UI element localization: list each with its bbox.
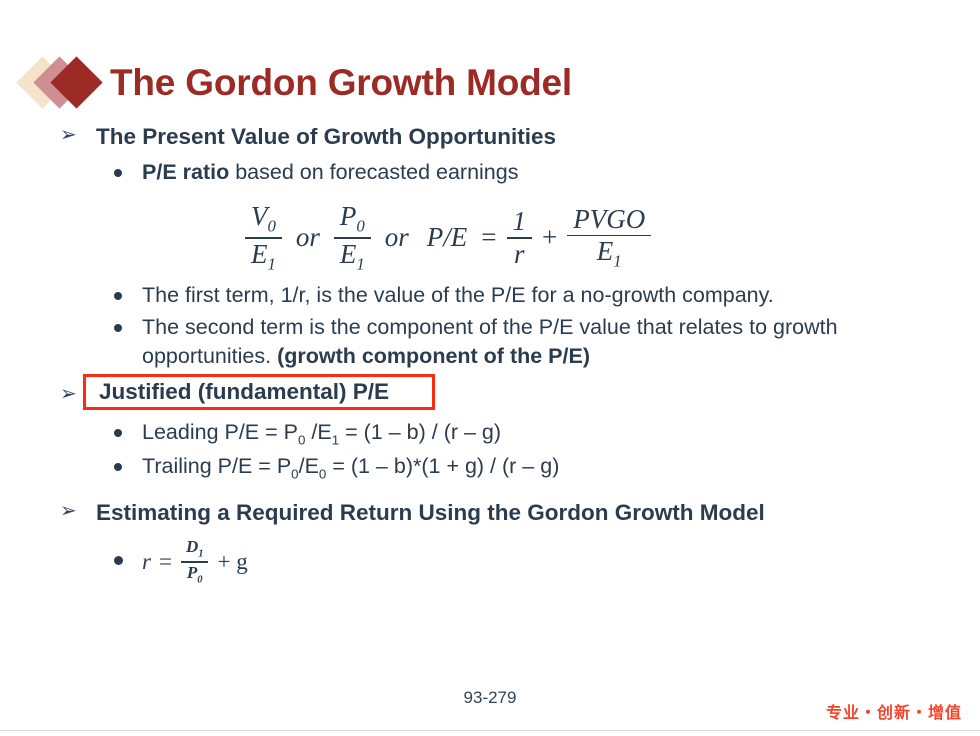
fraction-denominator: r xyxy=(508,239,531,270)
fraction-numerator: 1 xyxy=(507,206,533,237)
footer-divider xyxy=(0,730,980,731)
formula-equals: = xyxy=(476,222,501,253)
formula-r-tail: + g xyxy=(213,549,247,575)
formula-plus: + xyxy=(537,222,562,253)
slide: The Gordon Growth Model ➢ The Present Va… xyxy=(0,0,980,736)
slide-title-row: The Gordon Growth Model xyxy=(24,54,572,112)
footer-tagline: 专业・创新・增值 xyxy=(826,699,962,723)
highlight-box-justified-pe: Justified (fundamental) P/E xyxy=(83,374,435,410)
arrow-marker-icon: ➢ xyxy=(60,498,77,525)
bullet-dot-icon xyxy=(114,324,122,332)
bullet-second-term-bold: (growth component of the P/E) xyxy=(277,344,590,368)
formula-pe-decomposition: V0 E1 or P0 E1 or P/E = 1 r + xyxy=(0,201,980,267)
formula-or-2: or xyxy=(376,222,418,253)
fraction-numerator: PVGO xyxy=(567,204,651,235)
arrow-marker-icon: ➢ xyxy=(60,381,77,406)
formula-required-return: r = D1 P0 + g xyxy=(0,537,980,589)
fraction-d1-p0: D1 P0 xyxy=(181,537,209,586)
bullet-pe-ratio-bold: P/E ratio xyxy=(142,160,229,184)
fraction-denominator: E1 xyxy=(334,239,371,275)
section-heading-justified-label: Justified (fundamental) P/E xyxy=(99,379,389,405)
fraction-one-over-r: 1 r xyxy=(507,206,533,270)
bullet-trailing-pe: Trailing P/E = P0/E0 = (1 – b)*(1 + g) /… xyxy=(0,452,980,483)
fraction-numerator: P0 xyxy=(334,201,371,237)
section-heading-required-return-label: Estimating a Required Return Using the G… xyxy=(96,500,765,525)
bullet-leading-pe: Leading P/E = P0 /E1 = (1 – b) / (r – g) xyxy=(0,418,980,449)
page-title: The Gordon Growth Model xyxy=(110,62,572,104)
fraction-v0-e1: V0 E1 xyxy=(245,201,282,275)
section-heading-required-return: ➢ Estimating a Required Return Using the… xyxy=(0,498,980,528)
bullet-second-term: The second term is the component of the … xyxy=(0,313,862,371)
bullet-pe-ratio: P/E ratio based on forecasted earnings xyxy=(0,158,980,187)
formula-pe-label: P/E xyxy=(418,222,477,253)
arrow-marker-icon: ➢ xyxy=(60,122,77,149)
fraction-denominator: E1 xyxy=(245,239,282,275)
bullet-first-term-label: The first term, 1/r, is the value of the… xyxy=(142,283,774,307)
fraction-denominator: P0 xyxy=(182,563,208,587)
slide-body: ➢ The Present Value of Growth Opportunit… xyxy=(0,122,980,589)
bullet-dot-icon xyxy=(114,292,122,300)
formula-r-lhs: r xyxy=(142,549,159,575)
bullet-pe-ratio-rest: based on forecasted earnings xyxy=(229,160,518,184)
bullet-dot-icon xyxy=(114,429,122,437)
bullet-first-term: The first term, 1/r, is the value of the… xyxy=(0,281,980,310)
bullet-dot-icon xyxy=(114,169,122,177)
bullet-dot-icon xyxy=(114,463,122,471)
bullet-leading-pe-label: Leading P/E = P0 /E1 = (1 – b) / (r – g) xyxy=(142,420,501,444)
bullet-trailing-pe-label: Trailing P/E = P0/E0 = (1 – b)*(1 + g) /… xyxy=(142,454,559,478)
diamond-decoration-icon xyxy=(24,57,106,109)
section-heading-pvgo: ➢ The Present Value of Growth Opportunit… xyxy=(0,122,980,152)
fraction-pvgo-e1: PVGO E1 xyxy=(567,204,651,273)
fraction-p0-e1: P0 E1 xyxy=(334,201,371,275)
fraction-numerator: D1 xyxy=(181,537,209,561)
formula-r-equals: = xyxy=(159,549,176,575)
section-heading-justified-row: ➢ Justified (fundamental) P/E xyxy=(0,374,980,414)
fraction-numerator: V0 xyxy=(245,201,282,237)
formula-or-1: or xyxy=(287,222,329,253)
section-heading-pvgo-label: The Present Value of Growth Opportunitie… xyxy=(96,124,556,149)
bullet-dot-icon xyxy=(114,556,123,565)
fraction-denominator: E1 xyxy=(591,236,628,272)
